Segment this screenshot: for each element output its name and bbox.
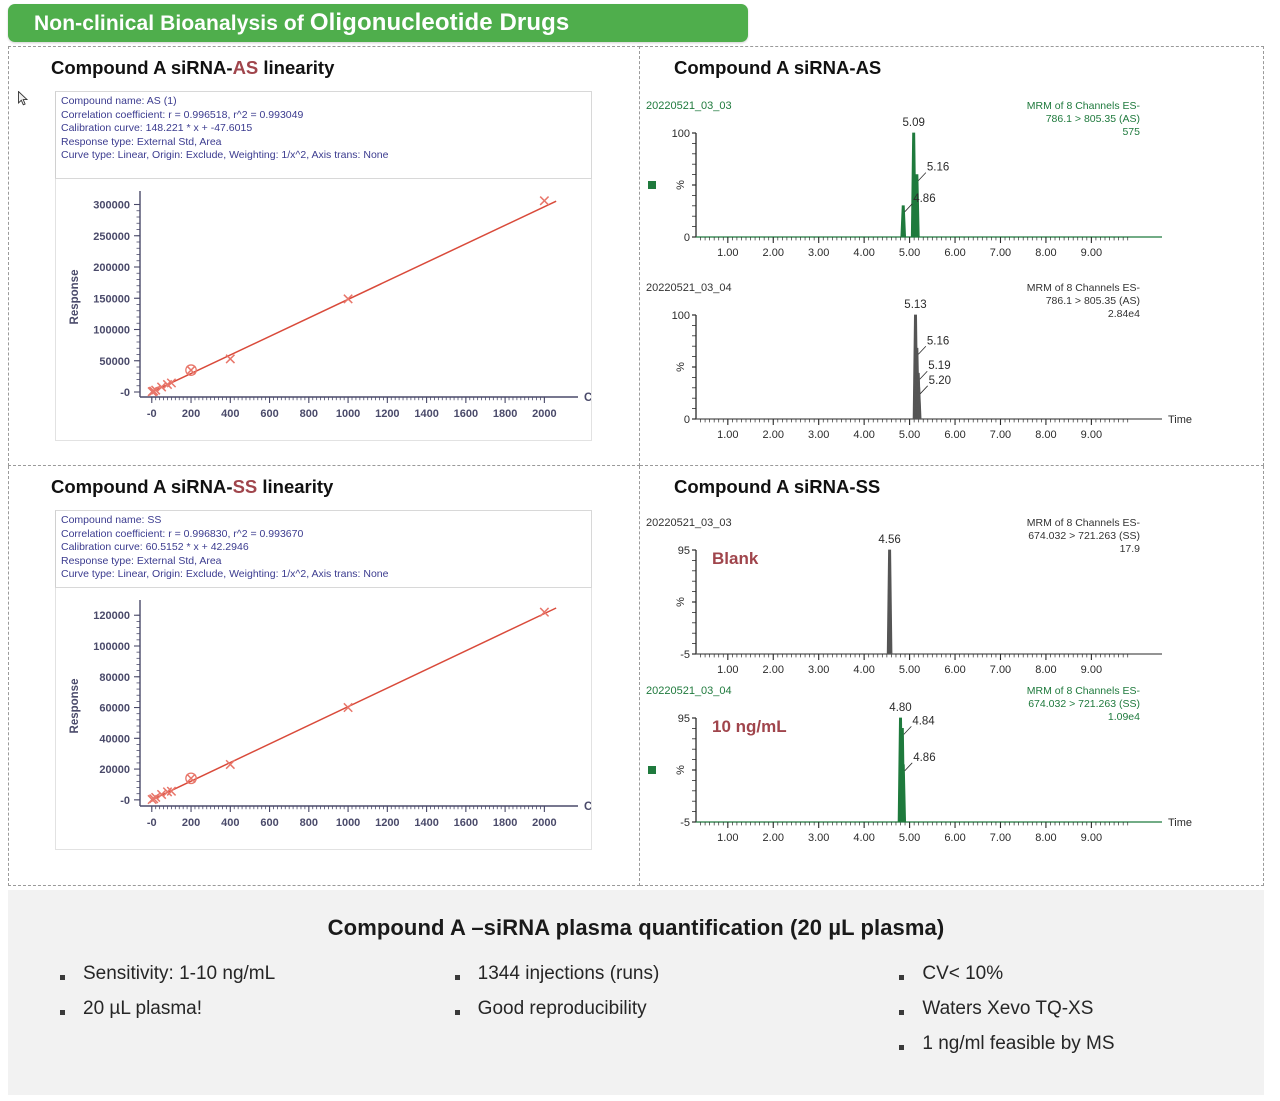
svg-text:20220521_03_03: 20220521_03_03 bbox=[646, 100, 732, 112]
svg-text:200000: 200000 bbox=[93, 262, 130, 274]
svg-text:100000: 100000 bbox=[93, 641, 130, 653]
svg-text:1800: 1800 bbox=[493, 817, 517, 829]
svg-text:MRM of 8 Channels ES-: MRM of 8 Channels ES- bbox=[1027, 685, 1141, 697]
svg-text:MRM of 8 Channels ES-: MRM of 8 Channels ES- bbox=[1027, 517, 1141, 529]
svg-text:400: 400 bbox=[221, 408, 239, 420]
svg-text:Conc: Conc bbox=[584, 392, 591, 404]
svg-text:250000: 250000 bbox=[93, 231, 130, 243]
svg-text:2.00: 2.00 bbox=[763, 429, 784, 441]
svg-text:Response: Response bbox=[69, 679, 81, 734]
list-item-label: Good reproducibility bbox=[478, 998, 647, 1020]
svg-text:1400: 1400 bbox=[414, 817, 438, 829]
banner-title-emphasis: Oligonucleotide Drugs bbox=[310, 9, 569, 36]
svg-text:1.00: 1.00 bbox=[717, 832, 738, 844]
svg-text:3.00: 3.00 bbox=[808, 429, 829, 441]
panel-ss-chromatogram: Compound A siRNA-SS 20220521_03_03MRM of… bbox=[640, 466, 1264, 886]
svg-text:150000: 150000 bbox=[93, 293, 130, 305]
footer-column-2: 1344 injections (runs) Good reproducibil… bbox=[395, 963, 790, 1068]
panel-title-suffix: SS bbox=[856, 476, 881, 497]
list-item: 1 ng/ml feasible by MS bbox=[899, 1033, 1234, 1055]
chromatogram-ss-blank: 20220521_03_03MRM of 8 Channels ES-674.0… bbox=[640, 504, 1200, 689]
svg-text:800: 800 bbox=[300, 408, 318, 420]
list-item: CV< 10% bbox=[899, 963, 1234, 985]
svg-text:674.032 > 721.263 (SS): 674.032 > 721.263 (SS) bbox=[1028, 530, 1140, 542]
svg-text:674.032 > 721.263 (SS): 674.032 > 721.263 (SS) bbox=[1028, 698, 1140, 710]
panel-title-suffix: linearity bbox=[258, 57, 334, 78]
info-line-calibration: Calibration curve: 60.5152 * x + 42.2946 bbox=[61, 541, 586, 555]
svg-text:6.00: 6.00 bbox=[944, 247, 965, 259]
svg-text:7.00: 7.00 bbox=[990, 247, 1011, 259]
svg-text:800: 800 bbox=[300, 817, 318, 829]
bullet-icon bbox=[455, 975, 460, 980]
svg-text:3.00: 3.00 bbox=[808, 247, 829, 259]
bullet-icon bbox=[60, 1010, 65, 1015]
ss-linearity-info-box: Compound name: SS Correlation coefficien… bbox=[55, 510, 592, 588]
panel-title-as-linearity: Compound A siRNA-AS linearity bbox=[51, 57, 334, 79]
svg-text:5.09: 5.09 bbox=[902, 117, 924, 129]
svg-text:1400: 1400 bbox=[414, 408, 438, 420]
svg-text:2.00: 2.00 bbox=[763, 247, 784, 259]
title-banner: Non-clinical Bioanalysis of Oligonucleot… bbox=[8, 4, 748, 42]
info-line-response-type: Response type: External Std, Area bbox=[61, 136, 586, 150]
bullet-icon bbox=[60, 975, 65, 980]
panel-as-linearity: Compound A siRNA-AS linearity Compound n… bbox=[8, 46, 640, 466]
as-calibration-plot: -0200400600800100012001400160018002000Co… bbox=[55, 179, 592, 441]
svg-text:1.00: 1.00 bbox=[717, 247, 738, 259]
svg-text:60000: 60000 bbox=[99, 703, 130, 715]
list-item-label: 1 ng/ml feasible by MS bbox=[922, 1033, 1114, 1055]
bullet-icon bbox=[899, 1010, 904, 1015]
svg-text:5.20: 5.20 bbox=[929, 375, 951, 387]
panel-title-suffix: linearity bbox=[257, 476, 333, 497]
svg-text:4.00: 4.00 bbox=[853, 832, 874, 844]
list-item-label: Waters Xevo TQ-XS bbox=[922, 998, 1093, 1020]
svg-text:Time: Time bbox=[1168, 414, 1192, 426]
svg-text:5.19: 5.19 bbox=[928, 360, 950, 372]
svg-text:6.00: 6.00 bbox=[944, 429, 965, 441]
svg-text:4.00: 4.00 bbox=[853, 247, 874, 259]
svg-text:Conc: Conc bbox=[584, 801, 591, 813]
svg-text:4.84: 4.84 bbox=[912, 715, 935, 727]
svg-text:%: % bbox=[675, 362, 687, 372]
svg-text:1200: 1200 bbox=[375, 408, 399, 420]
footer-column-3: CV< 10% Waters Xevo TQ-XS 1 ng/ml feasib… bbox=[789, 963, 1234, 1068]
svg-text:4.86: 4.86 bbox=[913, 752, 935, 764]
info-line-compound-name: Compound name: AS (1) bbox=[61, 95, 586, 109]
svg-text:2000: 2000 bbox=[532, 408, 556, 420]
list-item: Waters Xevo TQ-XS bbox=[899, 998, 1234, 1020]
svg-text:-0: -0 bbox=[120, 795, 130, 807]
bullet-icon bbox=[899, 1045, 904, 1050]
svg-text:575: 575 bbox=[1122, 126, 1140, 138]
svg-text:300000: 300000 bbox=[93, 200, 130, 212]
svg-text:5.16: 5.16 bbox=[927, 335, 949, 347]
svg-text:7.00: 7.00 bbox=[990, 429, 1011, 441]
svg-text:5.00: 5.00 bbox=[899, 247, 920, 259]
svg-text:-0: -0 bbox=[147, 817, 157, 829]
panel-title-suffix: AS bbox=[856, 57, 882, 78]
list-item: Sensitivity: 1-10 ng/mL bbox=[60, 963, 395, 985]
info-line-curve-type: Curve type: Linear, Origin: Exclude, Wei… bbox=[61, 568, 586, 582]
svg-text:2000: 2000 bbox=[532, 817, 556, 829]
svg-text:4.00: 4.00 bbox=[853, 429, 874, 441]
svg-text:4.86: 4.86 bbox=[913, 193, 935, 205]
svg-text:400: 400 bbox=[221, 817, 239, 829]
panel-title-highlight: AS bbox=[233, 57, 259, 78]
svg-text:8.00: 8.00 bbox=[1035, 247, 1056, 259]
info-line-curve-type: Curve type: Linear, Origin: Exclude, Wei… bbox=[61, 149, 586, 163]
svg-text:95: 95 bbox=[678, 545, 690, 557]
banner-title: Non-clinical Bioanalysis of Oligonucleot… bbox=[8, 9, 569, 37]
svg-text:20220521_03_04: 20220521_03_04 bbox=[646, 282, 732, 294]
svg-text:9.00: 9.00 bbox=[1081, 832, 1102, 844]
panel-title-as-chrom: Compound A siRNA-AS bbox=[674, 57, 881, 79]
svg-text:-5: -5 bbox=[680, 817, 690, 829]
svg-text:80000: 80000 bbox=[99, 672, 130, 684]
svg-text:0: 0 bbox=[684, 414, 690, 426]
svg-text:%: % bbox=[675, 180, 687, 190]
svg-text:9.00: 9.00 bbox=[1081, 247, 1102, 259]
chromatogram-as-03: 20220521_03_03MRM of 8 Channels ES-786.1… bbox=[640, 87, 1200, 272]
summary-footer: Compound A –siRNA plasma quantification … bbox=[8, 890, 1264, 1095]
as-linearity-info-box: Compound name: AS (1) Correlation coeffi… bbox=[55, 91, 592, 179]
svg-text:1.09e4: 1.09e4 bbox=[1108, 711, 1140, 723]
svg-text:MRM of 8 Channels ES-: MRM of 8 Channels ES- bbox=[1027, 100, 1141, 112]
list-item-label: 20 µL plasma! bbox=[83, 998, 202, 1020]
svg-text:50000: 50000 bbox=[99, 356, 130, 368]
panel-title-prefix: Compound A siRNA- bbox=[674, 476, 856, 497]
svg-text:5.00: 5.00 bbox=[899, 832, 920, 844]
panel-title-ss-chrom: Compound A siRNA-SS bbox=[674, 476, 880, 498]
svg-text:1800: 1800 bbox=[493, 408, 517, 420]
panel-grid: Compound A siRNA-AS linearity Compound n… bbox=[8, 46, 1264, 886]
svg-text:100: 100 bbox=[672, 128, 690, 140]
svg-text:40000: 40000 bbox=[99, 733, 130, 745]
svg-text:786.1 > 805.35 (AS): 786.1 > 805.35 (AS) bbox=[1046, 295, 1140, 307]
svg-text:5.13: 5.13 bbox=[904, 299, 926, 311]
svg-text:1600: 1600 bbox=[454, 817, 478, 829]
svg-text:Blank: Blank bbox=[712, 549, 759, 568]
bullet-icon bbox=[899, 975, 904, 980]
info-line-calibration: Calibration curve: 148.221 * x + -47.601… bbox=[61, 122, 586, 136]
panel-title-prefix: Compound A siRNA- bbox=[51, 476, 233, 497]
svg-text:MRM of 8 Channels ES-: MRM of 8 Channels ES- bbox=[1027, 282, 1141, 294]
svg-text:6.00: 6.00 bbox=[944, 832, 965, 844]
footer-column-1: Sensitivity: 1-10 ng/mL 20 µL plasma! bbox=[38, 963, 395, 1068]
svg-text:Time: Time bbox=[1168, 817, 1192, 829]
svg-text:9.00: 9.00 bbox=[1081, 429, 1102, 441]
bullet-icon bbox=[455, 1010, 460, 1015]
svg-text:120000: 120000 bbox=[93, 610, 130, 622]
chromatogram-as-04: 20220521_03_04MRM of 8 Channels ES-786.1… bbox=[640, 269, 1200, 454]
svg-text:1200: 1200 bbox=[375, 817, 399, 829]
svg-text:10 ng/mL: 10 ng/mL bbox=[712, 717, 787, 736]
svg-text:0: 0 bbox=[684, 232, 690, 244]
svg-text:100000: 100000 bbox=[93, 325, 130, 337]
svg-text:95: 95 bbox=[678, 713, 690, 725]
info-line-correlation: Correlation coefficient: r = 0.996518, r… bbox=[61, 109, 586, 123]
list-item-label: Sensitivity: 1-10 ng/mL bbox=[83, 963, 275, 985]
panel-ss-linearity: Compound A siRNA-SS linearity Compound n… bbox=[8, 466, 640, 886]
svg-text:600: 600 bbox=[260, 408, 278, 420]
panel-title-prefix: Compound A siRNA- bbox=[51, 57, 233, 78]
svg-text:-5: -5 bbox=[680, 649, 690, 661]
list-item: 20 µL plasma! bbox=[60, 998, 395, 1020]
svg-text:20220521_03_04: 20220521_03_04 bbox=[646, 685, 732, 697]
svg-text:7.00: 7.00 bbox=[990, 832, 1011, 844]
svg-text:600: 600 bbox=[260, 817, 278, 829]
svg-text:200: 200 bbox=[182, 817, 200, 829]
list-item-label: CV< 10% bbox=[922, 963, 1003, 985]
svg-text:1000: 1000 bbox=[336, 817, 360, 829]
panel-title-prefix: Compound A siRNA- bbox=[674, 57, 856, 78]
svg-text:-0: -0 bbox=[147, 408, 157, 420]
list-item: Good reproducibility bbox=[455, 998, 790, 1020]
svg-text:%: % bbox=[675, 765, 687, 775]
footer-bullet-columns: Sensitivity: 1-10 ng/mL 20 µL plasma! 13… bbox=[8, 963, 1264, 1068]
mouse-cursor-icon bbox=[18, 91, 29, 106]
list-item-label: 1344 injections (runs) bbox=[478, 963, 660, 985]
panel-title-highlight: SS bbox=[233, 476, 258, 497]
panel-title-ss-linearity: Compound A siRNA-SS linearity bbox=[51, 476, 333, 498]
svg-text:Response: Response bbox=[69, 270, 81, 325]
panel-as-chromatogram: Compound A siRNA-AS 20220521_03_03MRM of… bbox=[640, 46, 1264, 466]
info-line-compound-name: Compound name: SS bbox=[61, 514, 586, 528]
svg-text:1000: 1000 bbox=[336, 408, 360, 420]
chromatogram-ss-10ngml: 20220521_03_04MRM of 8 Channels ES-674.0… bbox=[640, 672, 1200, 857]
svg-text:-0: -0 bbox=[120, 387, 130, 399]
svg-text:8.00: 8.00 bbox=[1035, 832, 1056, 844]
svg-text:5.00: 5.00 bbox=[899, 429, 920, 441]
svg-text:1.00: 1.00 bbox=[717, 429, 738, 441]
svg-text:2.84e4: 2.84e4 bbox=[1108, 308, 1140, 320]
svg-text:1600: 1600 bbox=[454, 408, 478, 420]
svg-text:5.16: 5.16 bbox=[927, 162, 949, 174]
info-line-correlation: Correlation coefficient: r = 0.996830, r… bbox=[61, 528, 586, 542]
list-item: 1344 injections (runs) bbox=[455, 963, 790, 985]
svg-text:100: 100 bbox=[672, 310, 690, 322]
svg-text:4.56: 4.56 bbox=[878, 534, 900, 546]
svg-text:8.00: 8.00 bbox=[1035, 429, 1056, 441]
info-line-response-type: Response type: External Std, Area bbox=[61, 555, 586, 569]
svg-text:786.1 > 805.35 (AS): 786.1 > 805.35 (AS) bbox=[1046, 113, 1140, 125]
ss-calibration-plot: -0200400600800100012001400160018002000Co… bbox=[55, 588, 592, 850]
svg-text:%: % bbox=[675, 597, 687, 607]
banner-title-prefix: Non-clinical Bioanalysis of bbox=[34, 12, 310, 35]
svg-text:17.9: 17.9 bbox=[1120, 543, 1141, 555]
svg-text:200: 200 bbox=[182, 408, 200, 420]
svg-text:2.00: 2.00 bbox=[763, 832, 784, 844]
svg-text:4.80: 4.80 bbox=[889, 702, 911, 714]
svg-text:20220521_03_03: 20220521_03_03 bbox=[646, 517, 732, 529]
svg-text:20000: 20000 bbox=[99, 764, 130, 776]
footer-title: Compound A –siRNA plasma quantification … bbox=[8, 890, 1264, 941]
svg-text:3.00: 3.00 bbox=[808, 832, 829, 844]
